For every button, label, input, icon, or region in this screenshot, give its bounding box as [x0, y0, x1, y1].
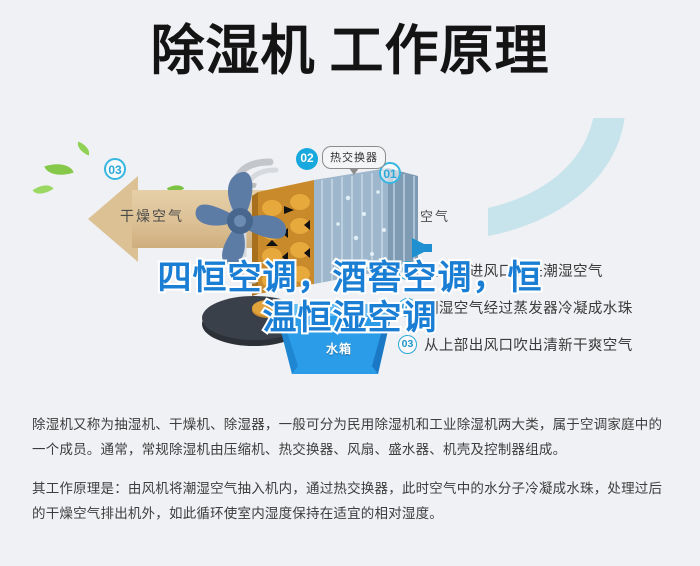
- leaf-icon: [44, 158, 73, 180]
- step-badge: 03: [398, 335, 417, 354]
- infographic-page: 除湿机工作原理 干燥空气 潮湿空气: [0, 0, 700, 566]
- badge-03: 03: [104, 158, 126, 180]
- step-text: 从下部进风口吸进潮湿空气: [424, 260, 603, 281]
- description-block: 除湿机又称为抽湿机、干燥机、除湿器，一般可分为民用除湿机和工业除湿机两大类，属于…: [32, 412, 674, 540]
- title-part-2: 工作原理: [330, 21, 550, 81]
- water-tank-label: 水箱: [326, 340, 352, 357]
- fan-graphic: [180, 166, 300, 276]
- step-list: 01 从下部进风口吸进潮湿空气 02 潮湿空气经过蒸发器冷凝成水珠 03 从上部…: [398, 260, 698, 371]
- leaf-icon: [32, 180, 53, 199]
- list-item: 03 从上部出风口吹出清新干爽空气: [398, 334, 698, 355]
- dehumidifier-diagram: 干燥空气 潮湿空气: [0, 118, 700, 403]
- title-part-1: 除湿机: [151, 21, 316, 81]
- list-item: 01 从下部进风口吸进潮湿空气: [398, 260, 698, 281]
- step-text: 潮湿空气经过蒸发器冷凝成水珠: [424, 297, 633, 318]
- page-title: 除湿机工作原理: [0, 24, 700, 78]
- list-item: 02 潮湿空气经过蒸发器冷凝成水珠: [398, 297, 698, 318]
- badge-02: 02: [296, 148, 318, 170]
- step-text: 从上部出风口吹出清新干爽空气: [424, 334, 633, 355]
- heat-exchanger-callout: 热交换器: [322, 146, 386, 169]
- paragraph-2: 其工作原理是：由风机将潮湿空气抽入机内，通过热交换器，此时空气中的水分子冷凝成水…: [32, 476, 674, 526]
- step-badge: 02: [398, 298, 417, 317]
- leaf-icon: [75, 142, 92, 156]
- step-badge: 01: [398, 261, 417, 280]
- paragraph-1: 除湿机又称为抽湿机、干燥机、除湿器，一般可分为民用除湿机和工业除湿机两大类，属于…: [32, 412, 674, 462]
- dry-air-label: 干燥空气: [120, 206, 184, 226]
